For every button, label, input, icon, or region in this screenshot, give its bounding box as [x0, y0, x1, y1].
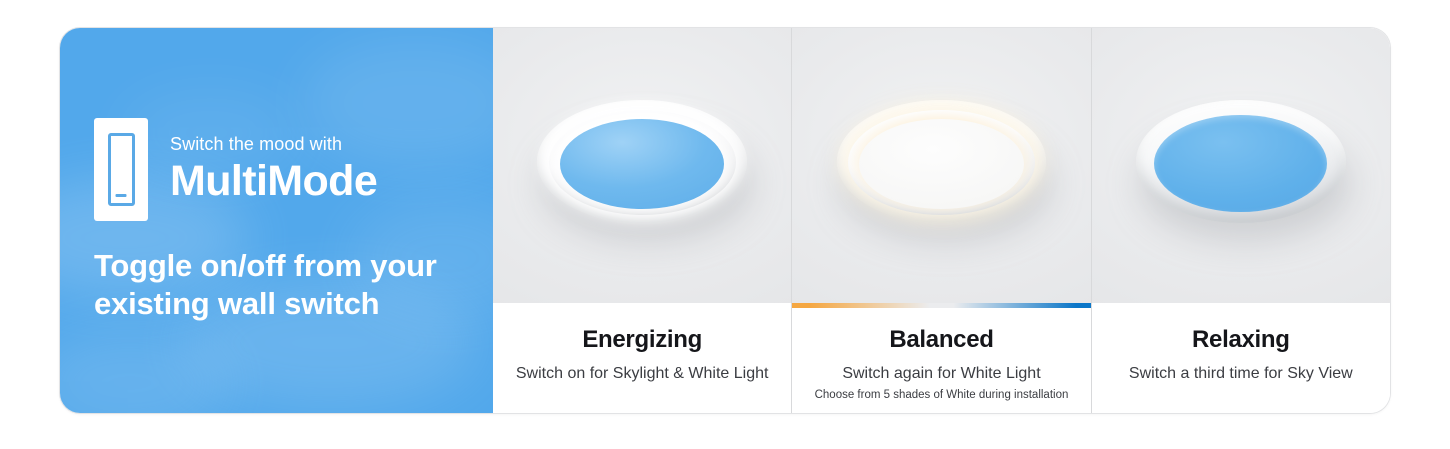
hero-panel: Switch the mood with MultiMode Toggle on… — [60, 28, 493, 413]
mode-title: Relaxing — [1106, 327, 1376, 353]
hero-top-row: Switch the mood with MultiMode — [94, 118, 459, 221]
mode-title: Balanced — [806, 327, 1076, 353]
hero-content: Switch the mood with MultiMode Toggle on… — [60, 28, 493, 413]
hero-subheading: Toggle on/off from your existing wall sw… — [94, 247, 459, 323]
mode-panel-energizing[interactable]: Energizing Switch on for Skylight & Whit… — [493, 28, 791, 413]
mode-caption-balanced: Balanced Switch again for White Light Ch… — [792, 308, 1090, 413]
fixture-light-core — [859, 119, 1023, 209]
hero-headings: Switch the mood with MultiMode — [170, 135, 377, 204]
mode-image-energizing — [493, 28, 791, 303]
fixture-light-core — [1154, 115, 1327, 213]
hero-brand-title: MultiMode — [170, 159, 377, 204]
mode-note: Choose from 5 shades of White during ins… — [806, 388, 1076, 403]
rocker-switch-icon — [108, 133, 135, 206]
mode-panel-relaxing[interactable]: Relaxing Switch a third time for Sky Vie… — [1091, 28, 1390, 413]
hero-eyebrow: Switch the mood with — [170, 135, 377, 155]
mode-panel-balanced[interactable]: Balanced Switch again for White Light Ch… — [791, 28, 1090, 413]
multimode-feature-card: Switch the mood with MultiMode Toggle on… — [60, 28, 1390, 413]
ceiling-light-icon — [827, 91, 1055, 241]
ceiling-light-icon — [528, 91, 756, 241]
mode-image-relaxing — [1092, 28, 1390, 303]
mode-description: Switch a third time for Sky View — [1106, 364, 1376, 384]
mode-title: Energizing — [507, 327, 777, 353]
ceiling-light-icon — [1127, 91, 1355, 241]
fixture-light-core — [560, 119, 724, 209]
wall-switch-plate-icon — [94, 118, 148, 221]
mode-panels: Energizing Switch on for Skylight & Whit… — [493, 28, 1390, 413]
mode-caption-energizing: Energizing Switch on for Skylight & Whit… — [493, 308, 791, 413]
mode-description: Switch on for Skylight & White Light — [507, 364, 777, 384]
mode-caption-relaxing: Relaxing Switch a third time for Sky Vie… — [1092, 308, 1390, 413]
mode-description: Switch again for White Light — [806, 364, 1076, 384]
mode-image-balanced — [792, 28, 1090, 303]
